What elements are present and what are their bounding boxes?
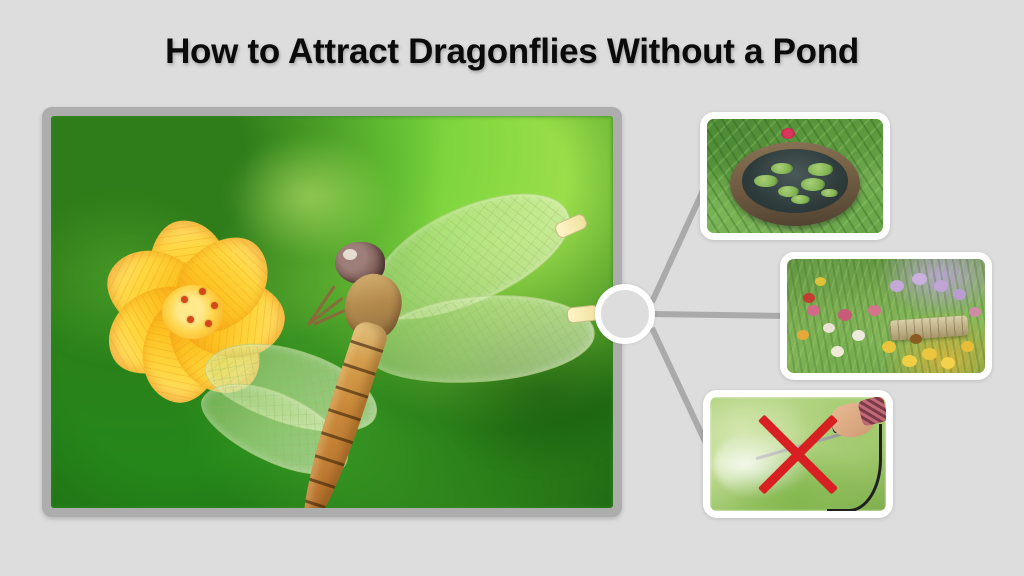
hero-image-frame[interactable] xyxy=(42,107,622,517)
dragonfly-eye xyxy=(343,249,357,260)
thumbnail-native-wildflower-garden[interactable] xyxy=(780,252,992,380)
infographic-canvas: How to Attract Dragonflies Without a Pon… xyxy=(0,0,1024,576)
center-node-circle[interactable] xyxy=(595,284,655,344)
flower-center-disc xyxy=(162,285,224,339)
thumbnail-avoid-pesticides[interactable] xyxy=(703,390,893,518)
barrel-pond xyxy=(730,142,860,226)
thumbnail-image-wildflowers xyxy=(787,259,985,373)
hero-image-dragonfly xyxy=(51,116,613,508)
water-lily-bloom xyxy=(781,128,795,139)
connector-to-container-pond xyxy=(652,184,706,302)
thumbnail-image-container-pond xyxy=(707,119,883,233)
red-x-prohibition-icon xyxy=(746,402,850,506)
thumbnail-image-pesticide-sprayer xyxy=(710,397,886,511)
connector-to-native-plants xyxy=(652,314,788,316)
dragonfly-illustration xyxy=(237,212,597,508)
pond-water xyxy=(742,149,849,212)
connector-to-no-pesticides xyxy=(652,328,710,452)
page-title: How to Attract Dragonflies Without a Pon… xyxy=(0,32,1024,72)
thumbnail-container-water-garden[interactable] xyxy=(700,112,890,240)
